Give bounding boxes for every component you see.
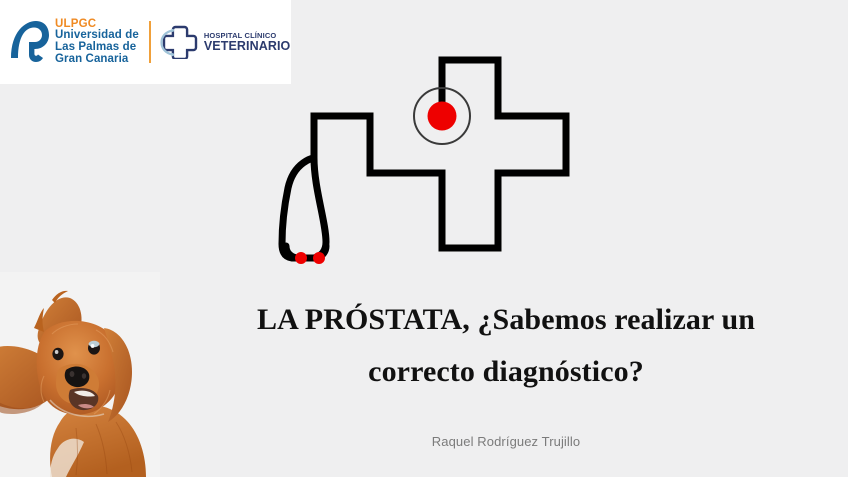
title-line-2: correcto diagnóstico? — [176, 346, 836, 398]
presentation-slide: ULPGC Universidad de Las Palmas de Gran … — [0, 0, 848, 477]
stethoscope-eartip-right — [313, 252, 325, 264]
ulpgc-logo: ULPGC Universidad de Las Palmas de Gran … — [8, 18, 139, 66]
stethoscope-medical-cross-illustration — [270, 28, 600, 278]
author-name: Raquel Rodríguez Trujillo — [176, 434, 836, 449]
stethoscope-eartip-left — [295, 252, 307, 264]
title-line-1: LA PRÓSTATA, ¿Sabemos realizar un — [176, 294, 836, 346]
ulpgc-line-2: Las Palmas de — [55, 42, 139, 54]
stethoscope-chestpiece-diaphragm — [428, 102, 457, 131]
ulpgc-line-3: Gran Canaria — [55, 54, 139, 66]
veterinary-cross-stethoscope-icon — [160, 25, 200, 59]
page-title: LA PRÓSTATA, ¿Sabemos realizar un correc… — [176, 294, 836, 397]
ulpgc-wordmark: ULPGC Universidad de Las Palmas de Gran … — [55, 19, 139, 66]
ulpgc-swirl-icon — [8, 18, 50, 66]
cocker-spaniel-dog-photo — [0, 272, 160, 477]
institution-logo-panel: ULPGC Universidad de Las Palmas de Gran … — [0, 0, 291, 84]
logo-divider — [149, 21, 151, 63]
